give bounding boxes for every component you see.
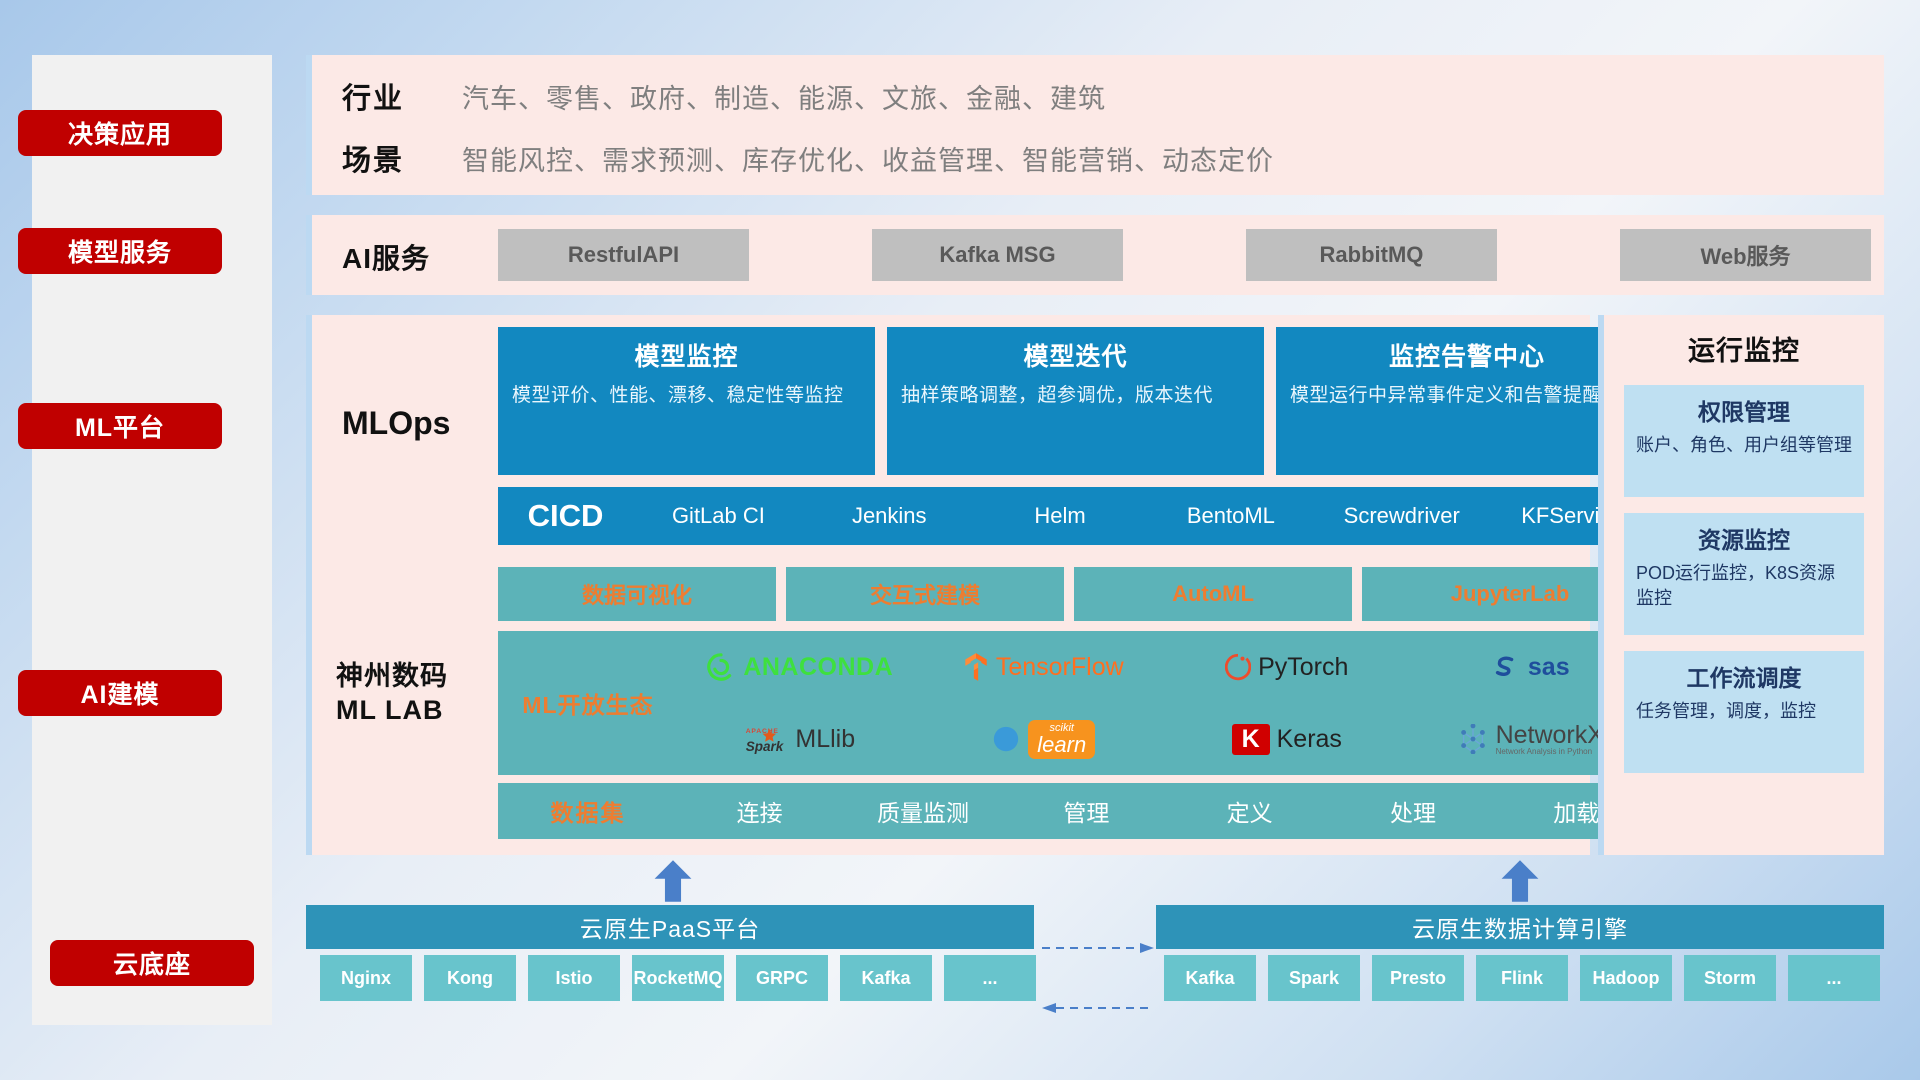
engine-chip-flink[interactable]: Flink <box>1476 955 1568 1001</box>
cicd-item-helm[interactable]: Helm <box>975 504 1146 527</box>
run-monitor-title: 运行监控 <box>1604 329 1884 368</box>
sas-icon <box>1491 652 1521 682</box>
lab-box-data-visualization[interactable]: 数据可视化 <box>498 567 776 621</box>
logo-keras: K Keras <box>1165 703 1409 775</box>
logo-label: PyTorch <box>1258 653 1348 682</box>
engine-chip-hadoop[interactable]: Hadoop <box>1580 955 1672 1001</box>
dataset-item-definition[interactable]: 定义 <box>1168 794 1331 828</box>
rail-item-ai-modeling[interactable]: AI建模 <box>18 670 222 716</box>
logo-label: MLlib <box>795 725 855 754</box>
card-desc: POD运行监控，K8S资源监控 <box>1636 561 1852 611</box>
networkx-wordmark: NetworkX Network Analysis in Python <box>1496 723 1604 756</box>
rail-item-label: ML平台 <box>75 408 165 444</box>
ml-lab-label: 神州数码ML LAB <box>336 660 448 728</box>
card-desc: 账户、角色、用户组等管理 <box>1636 433 1852 458</box>
dataset-item-processing[interactable]: 处理 <box>1331 794 1494 828</box>
service-box-kafka-msg[interactable]: Kafka MSG <box>872 229 1123 281</box>
paas-chip-kafka[interactable]: Kafka <box>840 955 932 1001</box>
dashed-arrow-right-icon <box>1042 938 1154 958</box>
decision-app-band: 行业 汽车、零售、政府、制造、能源、文旅、金融、建筑 场景 智能风控、需求预测、… <box>306 55 1884 195</box>
logo-spark-mllib: APACHE Spark MLlib <box>678 703 922 775</box>
architecture-diagram: 决策应用 模型服务 ML平台 AI建模 云底座 行业 汽车、零售、政府、制造、能… <box>0 0 1920 1080</box>
paas-chip-rocketmq[interactable]: RocketMQ <box>632 955 724 1001</box>
service-box-web[interactable]: Web服务 <box>1620 229 1871 281</box>
rail-item-ml-platform[interactable]: ML平台 <box>18 403 222 449</box>
rail-item-decision-app[interactable]: 决策应用 <box>18 110 222 156</box>
mlops-card-model-monitoring[interactable]: 模型监控 模型评价、性能、漂移、稳定性等监控 <box>498 327 875 475</box>
logo-label: learn <box>1037 734 1086 756</box>
logo-pytorch: PyTorch <box>1165 631 1409 703</box>
card-desc: 模型评价、性能、漂移、稳定性等监控 <box>512 383 861 409</box>
logo-label: TensorFlow <box>996 653 1124 682</box>
spark-icon: APACHE Spark <box>744 722 788 756</box>
dataset-row: 数据集 连接 质量监测 管理 定义 处理 加载 <box>498 783 1658 839</box>
card-title: 监控告警中心 <box>1290 337 1644 373</box>
engine-chip-more[interactable]: ... <box>1788 955 1880 1001</box>
scenario-label: 场景 <box>342 137 462 179</box>
industry-row: 行业 汽车、零售、政府、制造、能源、文旅、金融、建筑 <box>342 75 1106 117</box>
lab-box-automl[interactable]: AutoML <box>1074 567 1352 621</box>
logo-label: ANACONDA <box>743 653 893 682</box>
left-rail <box>32 55 272 1025</box>
cicd-bar: CICD GitLab CI Jenkins Helm BentoML Scre… <box>498 487 1658 545</box>
dataset-item-management[interactable]: 管理 <box>1005 794 1168 828</box>
logo-label: NetworkX <box>1496 723 1604 748</box>
svg-text:Spark: Spark <box>746 739 785 754</box>
engine-chip-spark[interactable]: Spark <box>1268 955 1360 1001</box>
rail-item-label: 云底座 <box>113 945 191 981</box>
card-title: 模型监控 <box>512 337 861 373</box>
cloud-bar-data-engine: 云原生数据计算引擎 <box>1156 905 1884 949</box>
logo-label: Keras <box>1277 725 1342 754</box>
logo-tensorflow: TensorFlow <box>922 631 1166 703</box>
dataset-item-quality-monitoring[interactable]: 质量监测 <box>841 794 1004 828</box>
card-desc: 任务管理，调度，监控 <box>1636 699 1852 724</box>
logo-anaconda: ANACONDA <box>678 631 922 703</box>
engine-chip-storm[interactable]: Storm <box>1684 955 1776 1001</box>
rail-item-cloud-base[interactable]: 云底座 <box>50 940 254 986</box>
card-title: 模型迭代 <box>901 337 1250 373</box>
service-box-rabbitmq[interactable]: RabbitMQ <box>1246 229 1497 281</box>
mlops-label: MLOps <box>342 405 450 442</box>
ai-service-label: AI服务 <box>342 237 430 277</box>
dataset-label: 数据集 <box>498 794 678 828</box>
mlops-band: MLOps 模型监控 模型评价、性能、漂移、稳定性等监控 模型迭代 抽样策略调整… <box>306 315 1590 555</box>
logo-scikit-learn: scikit learn <box>922 703 1166 775</box>
cicd-item-bentoml[interactable]: BentoML <box>1145 504 1316 527</box>
paas-chip-nginx[interactable]: Nginx <box>320 955 412 1001</box>
mlops-card-model-iteration[interactable]: 模型迭代 抽样策略调整，超参调优，版本迭代 <box>887 327 1264 475</box>
service-box-restfulapi[interactable]: RestfulAPI <box>498 229 749 281</box>
ml-ecosystem-box: ML开放生态 ANACONDA Tensor <box>498 631 1658 775</box>
engine-chip-presto[interactable]: Presto <box>1372 955 1464 1001</box>
paas-chip-row: Nginx Kong Istio RocketMQ GRPC Kafka ... <box>320 955 1036 1001</box>
lab-box-interactive-modeling[interactable]: 交互式建模 <box>786 567 1064 621</box>
tensorflow-icon <box>963 652 989 682</box>
scenario-row: 场景 智能风控、需求预测、库存优化、收益管理、智能营销、动态定价 <box>342 137 1274 179</box>
card-title: 工作流调度 <box>1636 659 1852 693</box>
rail-item-label: 模型服务 <box>68 233 172 269</box>
rail-item-model-service[interactable]: 模型服务 <box>18 228 222 274</box>
card-title: 权限管理 <box>1636 393 1852 427</box>
card-desc: 模型运行中异常事件定义和告警提醒 <box>1290 383 1644 409</box>
scikit-learn-wordmark: scikit learn <box>1028 720 1095 759</box>
card-title: 资源监控 <box>1636 521 1852 555</box>
monitor-card-permission[interactable]: 权限管理 账户、角色、用户组等管理 <box>1624 385 1864 497</box>
cicd-item-gitlab-ci[interactable]: GitLab CI <box>633 504 804 527</box>
monitor-card-resource[interactable]: 资源监控 POD运行监控，K8S资源监控 <box>1624 513 1864 635</box>
engine-chip-kafka[interactable]: Kafka <box>1164 955 1256 1001</box>
ml-ecosystem-logos: ANACONDA TensorFlow <box>678 631 1658 775</box>
networkx-icon <box>1457 724 1489 754</box>
dataset-item-connect[interactable]: 连接 <box>678 794 841 828</box>
up-arrow-icon-left <box>650 858 696 904</box>
paas-chip-istio[interactable]: Istio <box>528 955 620 1001</box>
industry-label: 行业 <box>342 75 462 117</box>
rail-item-label: 决策应用 <box>68 115 172 151</box>
card-desc: 抽样策略调整，超参调优，版本迭代 <box>901 383 1250 409</box>
logo-label: sas <box>1528 653 1570 682</box>
anaconda-icon <box>706 652 736 682</box>
cloud-bar-paas: 云原生PaaS平台 <box>306 905 1034 949</box>
rail-item-label: AI建模 <box>80 675 159 711</box>
paas-chip-more[interactable]: ... <box>944 955 1036 1001</box>
scikit-learn-icon <box>991 724 1021 754</box>
paas-chip-grpc[interactable]: GRPC <box>736 955 828 1001</box>
ai-service-band: AI服务 RestfulAPI Kafka MSG RabbitMQ Web服务 <box>306 215 1884 295</box>
run-monitor-band: 运行监控 权限管理 账户、角色、用户组等管理 资源监控 POD运行监控，K8S资… <box>1598 315 1884 855</box>
monitor-card-workflow[interactable]: 工作流调度 任务管理，调度，监控 <box>1624 651 1864 773</box>
cicd-item-screwdriver[interactable]: Screwdriver <box>1316 504 1487 527</box>
data-engine-chip-row: Kafka Spark Presto Flink Hadoop Storm ..… <box>1164 955 1880 1001</box>
ml-lab-band: 神州数码ML LAB 数据可视化 交互式建模 AutoML JupyterLab… <box>306 555 1590 855</box>
industry-values: 汽车、零售、政府、制造、能源、文旅、金融、建筑 <box>462 77 1106 116</box>
keras-icon: K <box>1232 724 1270 755</box>
ml-ecosystem-label: ML开放生态 <box>498 686 678 720</box>
scenario-values: 智能风控、需求预测、库存优化、收益管理、智能营销、动态定价 <box>462 139 1274 178</box>
cicd-item-jenkins[interactable]: Jenkins <box>804 504 975 527</box>
dashed-arrow-left-icon <box>1042 998 1154 1018</box>
pytorch-icon <box>1225 652 1251 682</box>
up-arrow-icon-right <box>1497 858 1543 904</box>
cicd-title: CICD <box>498 498 633 534</box>
paas-chip-kong[interactable]: Kong <box>424 955 516 1001</box>
